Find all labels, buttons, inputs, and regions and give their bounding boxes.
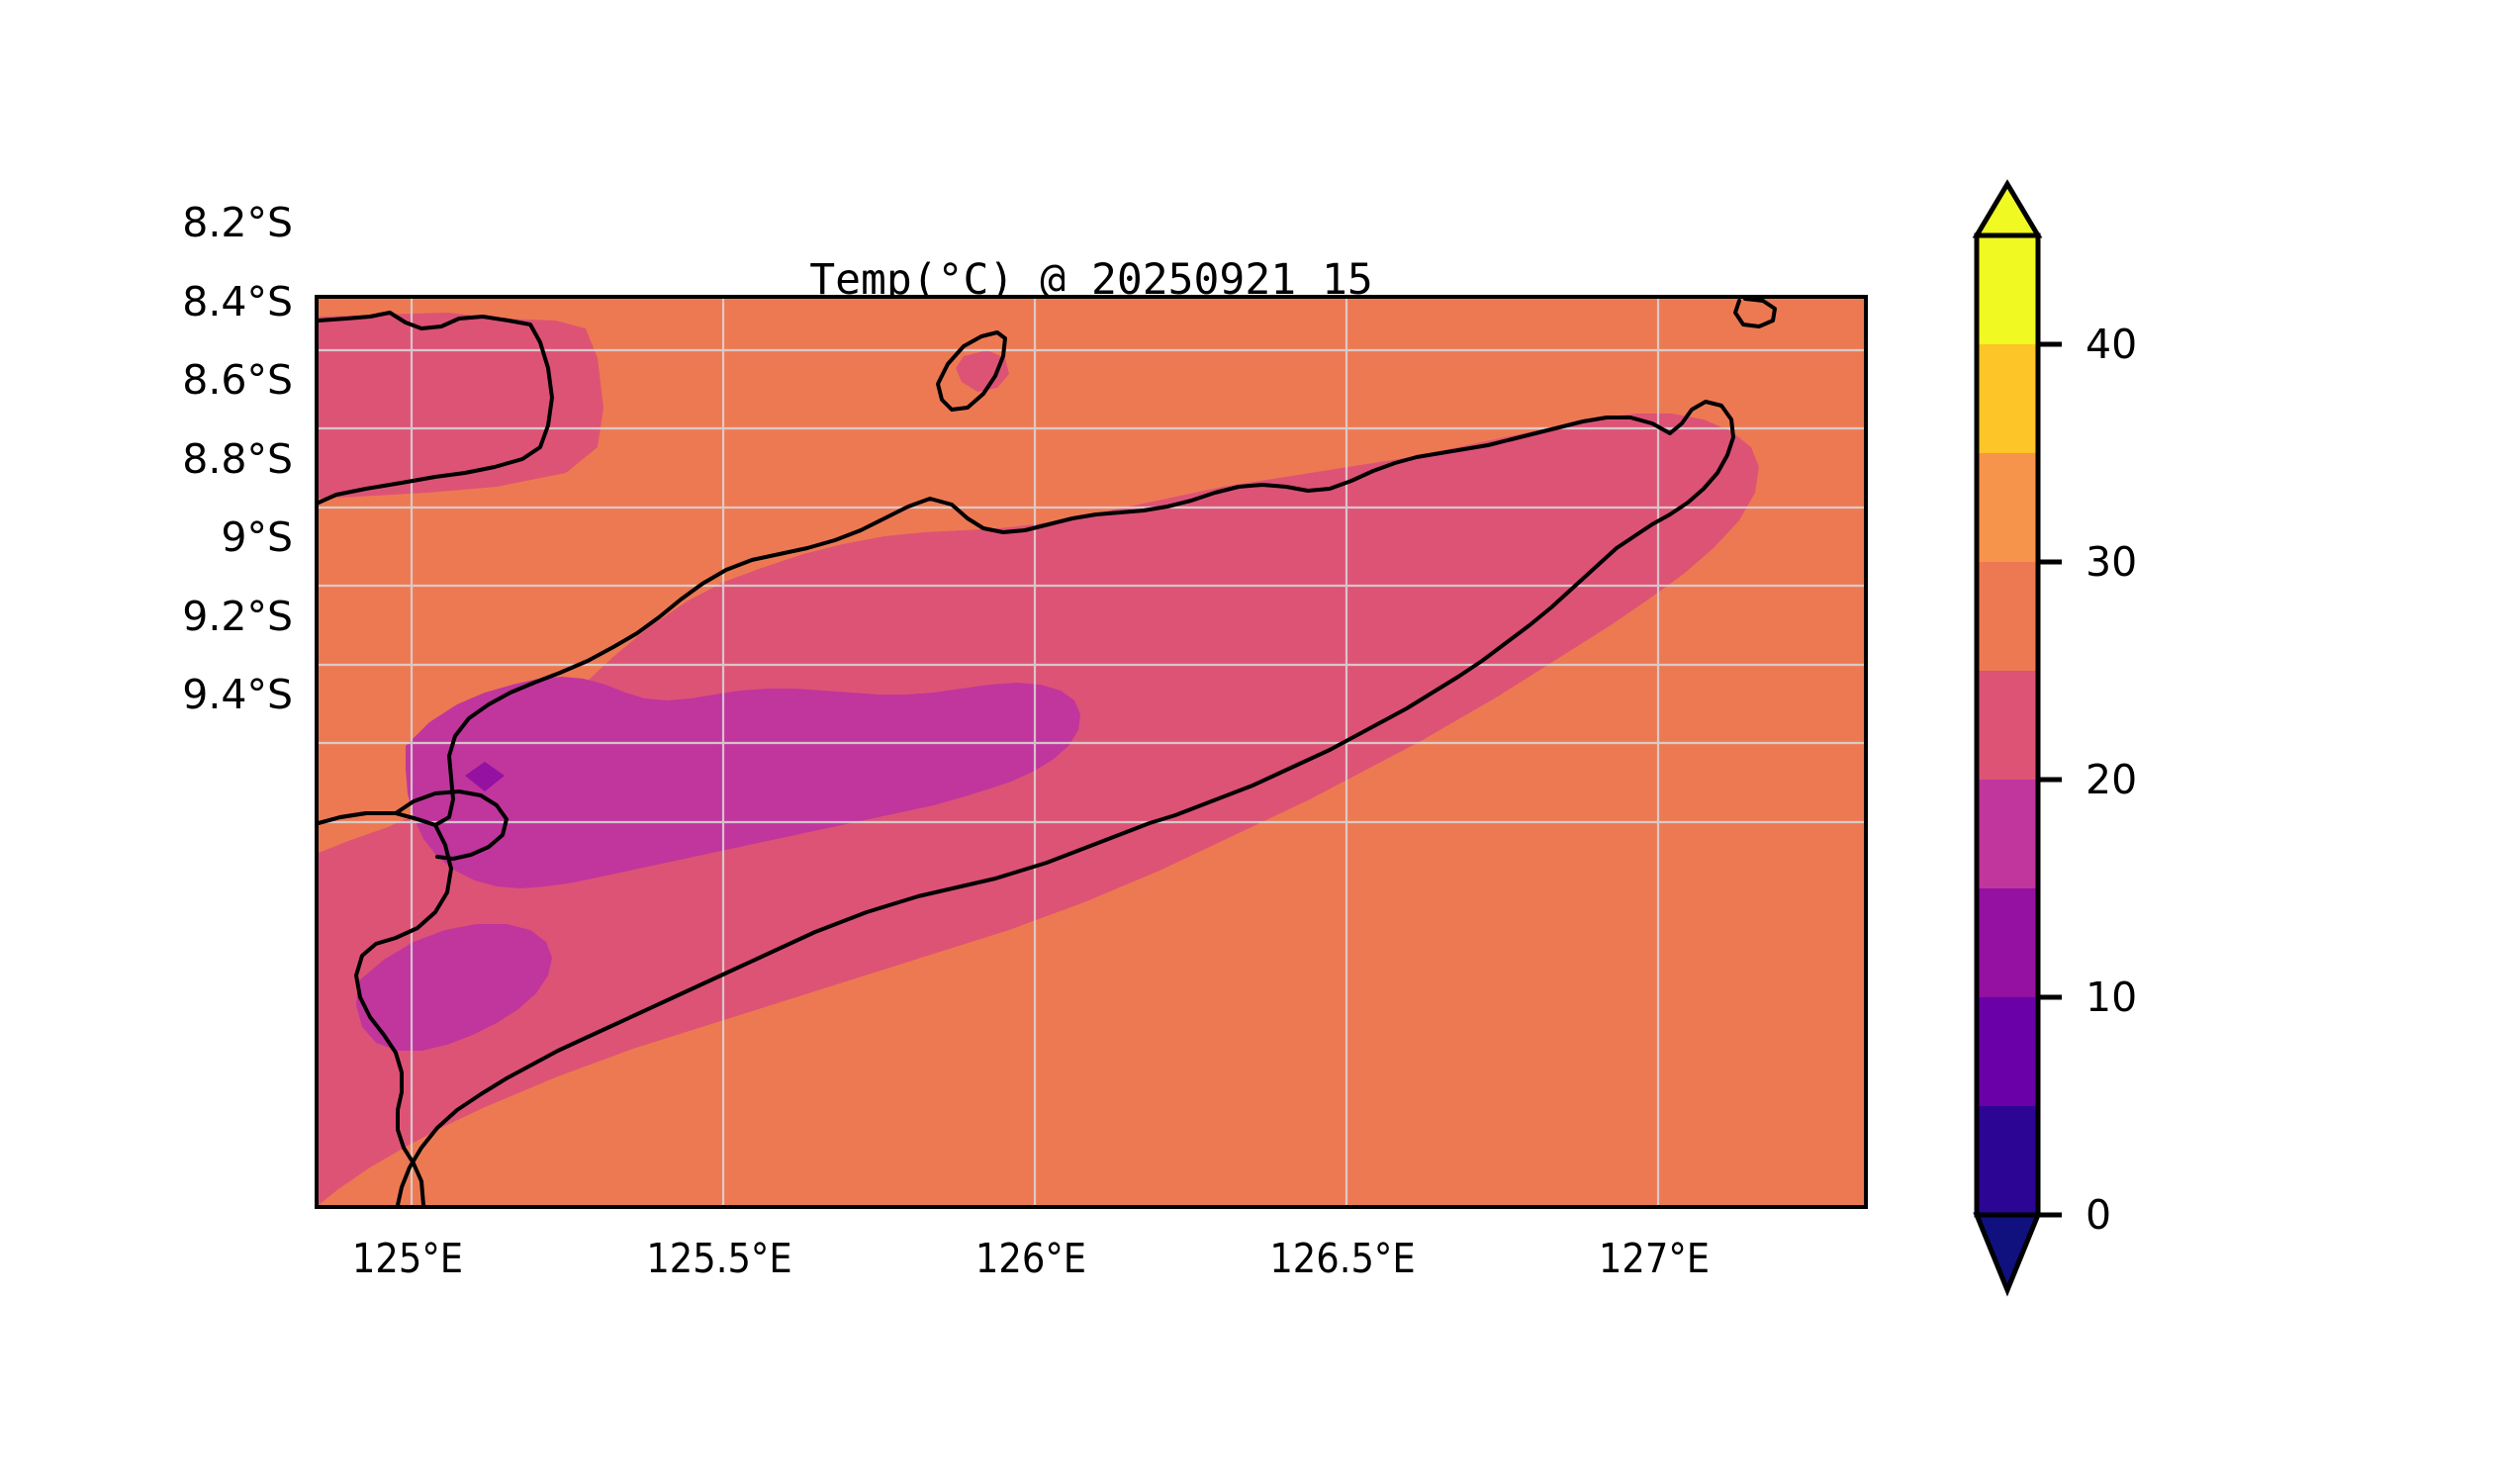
map-plot-area[interactable] bbox=[315, 295, 1868, 1209]
colorbar-band-0-5 bbox=[1977, 1106, 2038, 1215]
colorbar-band-10-15 bbox=[1977, 888, 2038, 997]
colorbar-band-15-20 bbox=[1977, 780, 2038, 888]
ytick-label-8.2S: 8.2°S bbox=[0, 199, 293, 246]
colorbar-tick-label-30: 30 bbox=[2086, 538, 2137, 586]
ytick-label-8.4S: 8.4°S bbox=[0, 278, 293, 325]
colorbar-tick-label-0: 0 bbox=[2086, 1191, 2111, 1239]
colorbar-band-20-25 bbox=[1977, 671, 2038, 780]
colorbar-band-40-45 bbox=[1977, 235, 2038, 344]
colorbar-band-25-30 bbox=[1977, 562, 2038, 671]
colorbar-band-35-40 bbox=[1977, 344, 2038, 453]
ytick-label-9.2S: 9.2°S bbox=[0, 593, 293, 640]
colorbar-tick-label-10: 10 bbox=[2086, 974, 2137, 1021]
colorbar-extend-low bbox=[1977, 1215, 2038, 1290]
ytick-label-8.6S: 8.6°S bbox=[0, 356, 293, 404]
xtick-label-126E: 126°E bbox=[975, 1235, 1086, 1282]
xtick-label-125E: 125°E bbox=[352, 1235, 463, 1282]
colorbar-band-30-35 bbox=[1977, 453, 2038, 562]
map-contour-layer bbox=[319, 299, 1864, 1205]
colorbar-tick-label-40: 40 bbox=[2086, 321, 2137, 368]
temperature-contour-svg bbox=[319, 299, 1864, 1205]
colorbar-svg[interactable] bbox=[1977, 235, 2038, 1314]
figure-canvas: Temp(°C) @ 20250921_15 Simulation Time: … bbox=[0, 0, 2504, 1484]
ytick-label-9S: 9°S bbox=[0, 513, 293, 561]
colorbar[interactable] bbox=[1977, 235, 2038, 1185]
colorbar-ticks bbox=[2038, 344, 2062, 1215]
xtick-label-127E: 127°E bbox=[1599, 1235, 1710, 1282]
colorbar-band-5-10 bbox=[1977, 997, 2038, 1106]
ytick-label-9.4S: 9.4°S bbox=[0, 671, 293, 718]
colorbar-extend-high bbox=[1977, 184, 2038, 235]
ytick-label-8.8S: 8.8°S bbox=[0, 435, 293, 483]
xtick-label-126.5E: 126.5°E bbox=[1269, 1235, 1415, 1282]
xtick-label-125.5E: 125.5°E bbox=[646, 1235, 791, 1282]
colorbar-tick-label-20: 20 bbox=[2086, 756, 2137, 803]
